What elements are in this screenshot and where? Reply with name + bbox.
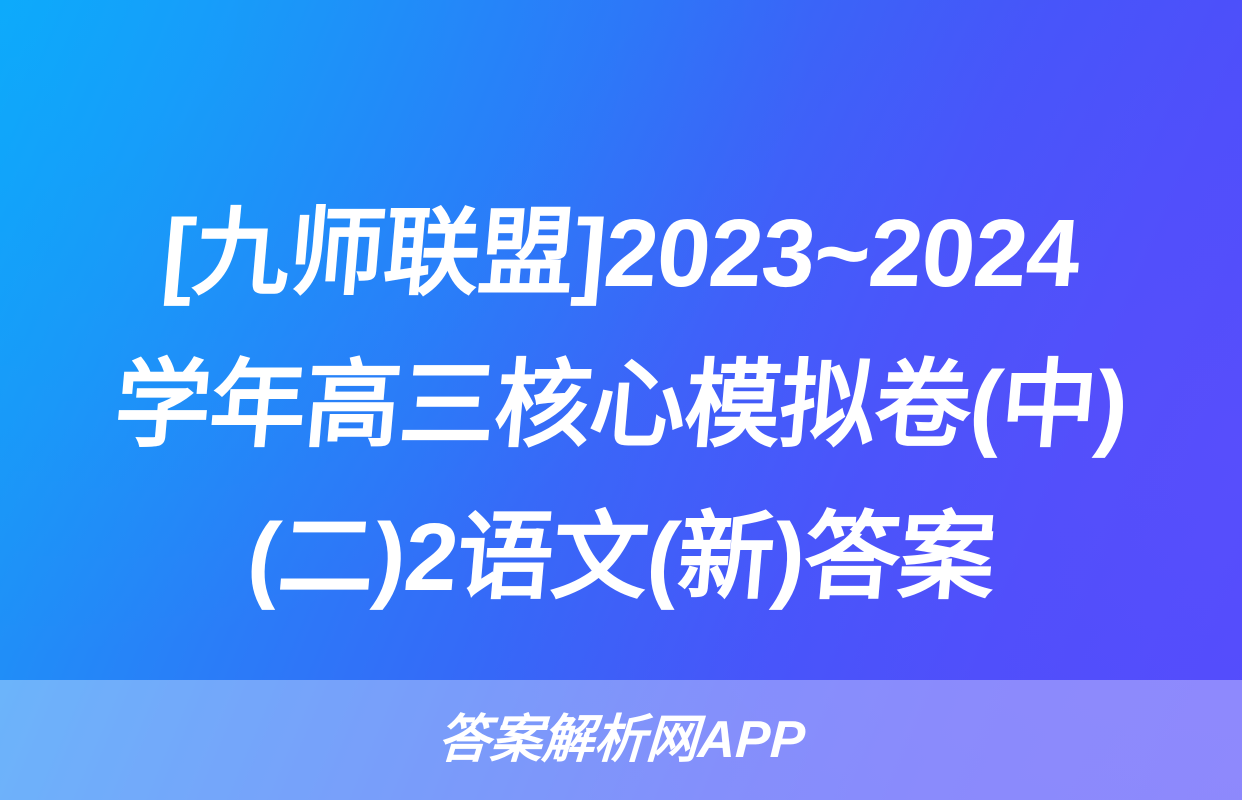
title-line-2: 学年高三核心模拟卷(中) (21, 330, 1220, 482)
title-line-1: [九师联盟]2023~2024 (21, 178, 1220, 330)
exam-title-block: [九师联盟]2023~2024 学年高三核心模拟卷(中) (二)2语文(新)答案 (0, 178, 1242, 634)
app-brand-label: 答案解析网APP (436, 714, 806, 766)
title-line-3: (二)2语文(新)答案 (21, 482, 1220, 634)
promo-banner: [九师联盟]2023~2024 学年高三核心模拟卷(中) (二)2语文(新)答案… (0, 0, 1242, 800)
app-brand-band: 答案解析网APP (0, 680, 1242, 800)
